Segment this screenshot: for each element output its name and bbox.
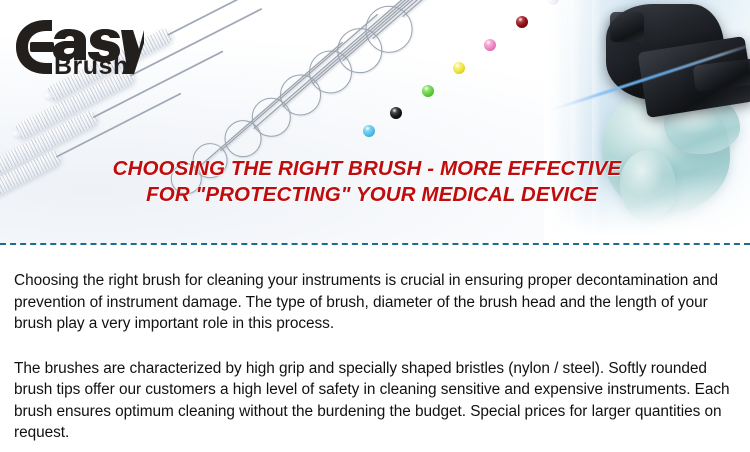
description-paragraph-1: Choosing the right brush for cleaning yo… (14, 270, 730, 335)
endoscope-grip (610, 12, 644, 42)
bead-yellow (453, 62, 465, 74)
easy-brush-logo[interactable]: Brush (12, 16, 144, 78)
svg-text:Brush: Brush (54, 52, 129, 78)
description-section: Choosing the right brush for cleaning yo… (0, 252, 750, 452)
product-info-page: Brush CHOOSING THE RIGHT BRUSH - MORE EF… (0, 0, 750, 452)
bead-dark-red (516, 16, 528, 28)
logo-artwork: Brush (12, 16, 144, 78)
hero-banner: Brush CHOOSING THE RIGHT BRUSH - MORE EF… (0, 0, 750, 244)
description-paragraph-2: The brushes are characterized by high gr… (14, 358, 730, 444)
bead-pink (484, 39, 496, 51)
endoscope-photo (544, 0, 750, 244)
bead-black (390, 107, 402, 119)
section-divider (0, 243, 750, 245)
bead-cyan (363, 125, 375, 137)
bead-green (422, 85, 434, 97)
